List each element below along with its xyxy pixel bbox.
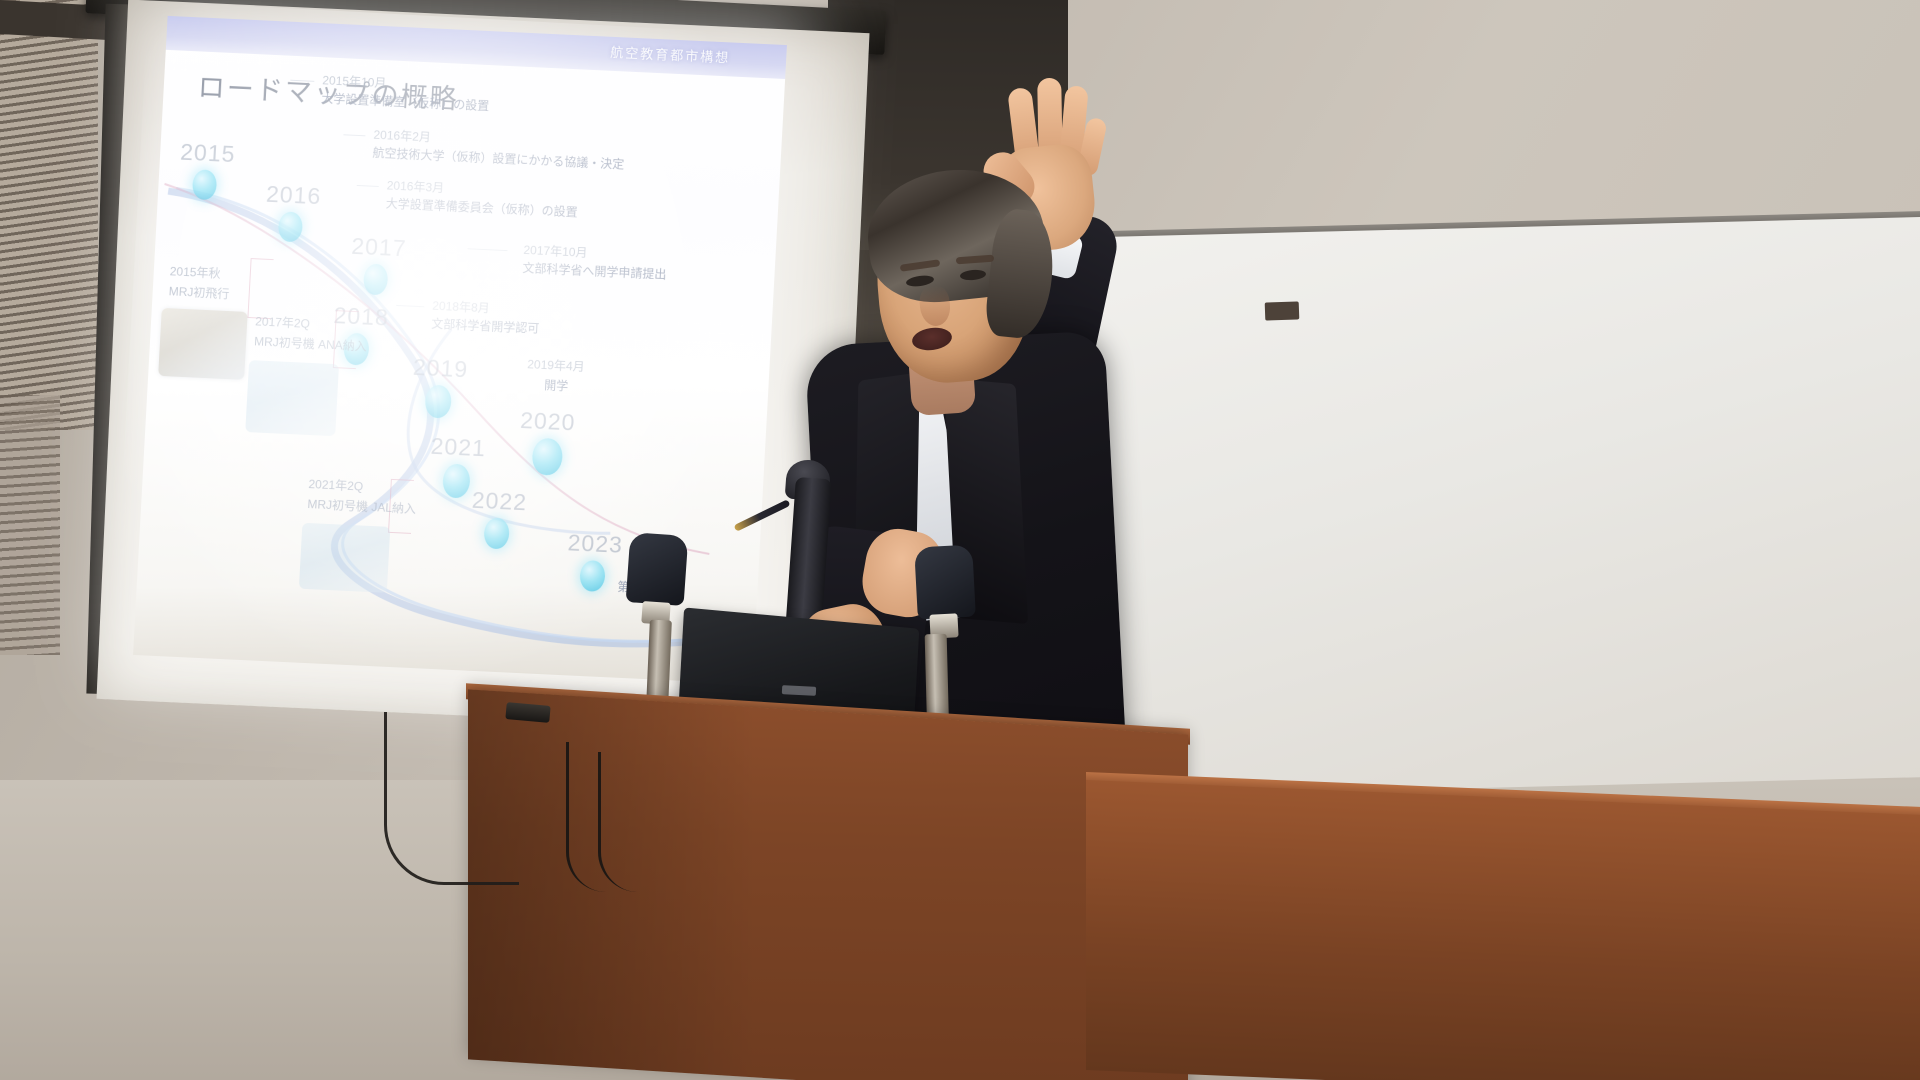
milestone-text-6: 開学 (544, 376, 569, 395)
year-label-2019: 2019 (412, 354, 469, 384)
bracket-1 (247, 258, 273, 319)
laptop-brand-logo (782, 685, 816, 696)
year-node-2015 (192, 169, 218, 200)
leader-line-2 (343, 134, 365, 136)
year-node-2016 (278, 211, 304, 242)
year-node-2017 (363, 263, 389, 295)
mrj-date-2: 2017年2Q (255, 312, 311, 333)
mrj-date-1: 2015年秋 (169, 262, 221, 282)
mrj-text-1: MRJ初飛行 (168, 282, 230, 303)
whiteboard-clip (1265, 301, 1300, 320)
mrj-text-3: MRJ初号機 JAL納入 (307, 495, 417, 518)
leader-line-3 (357, 185, 379, 187)
projected-slide: 航空教育都市構想 ロードマップの概略 2015 2016 2017 2018 2… (133, 16, 787, 684)
lecture-scene: 航空教育都市構想 ロードマップの概略 2015 2016 2017 2018 2… (0, 0, 1920, 1080)
thumbnail-mrj-ana (245, 360, 339, 436)
year-label-2017: 2017 (351, 233, 408, 263)
year-label-2022: 2022 (471, 487, 528, 517)
milestone-text-2: 航空技術大学（仮称）設置にかかる協議・決定 (372, 144, 625, 174)
year-label-2015: 2015 (180, 139, 237, 169)
year-label-2023: 2023 (567, 529, 624, 559)
year-node-2022 (483, 517, 510, 549)
year-label-2020: 2020 (520, 407, 577, 437)
milestone-date-6: 2019年4月 (527, 355, 585, 376)
year-node-2019 (424, 384, 452, 418)
leader-line-5 (396, 305, 424, 307)
av-cable-3 (598, 752, 645, 892)
av-cable-1 (384, 712, 519, 885)
milestone-text-5: 文部科学省開学認可 (431, 315, 540, 338)
year-label-2021: 2021 (430, 433, 487, 463)
leader-line-4 (467, 248, 507, 251)
thumbnail-mrj-jal (299, 523, 390, 593)
year-node-2023 (579, 560, 606, 592)
year-node-2020 (531, 438, 563, 476)
mic-stand-right-head (914, 545, 976, 620)
milestone-text-3: 大学設置準備委員会（仮称）の設置 (385, 194, 578, 221)
year-node-2021 (442, 463, 471, 498)
lectern-base (1086, 780, 1920, 1080)
year-label-2016: 2016 (265, 181, 322, 211)
thumbnail-runway (158, 308, 248, 380)
milestone-text-4: 文部科学省へ開学申請提出 (522, 259, 667, 284)
mic-stand-left-head (626, 532, 689, 606)
mrj-date-3: 2021年2Q (308, 475, 364, 496)
